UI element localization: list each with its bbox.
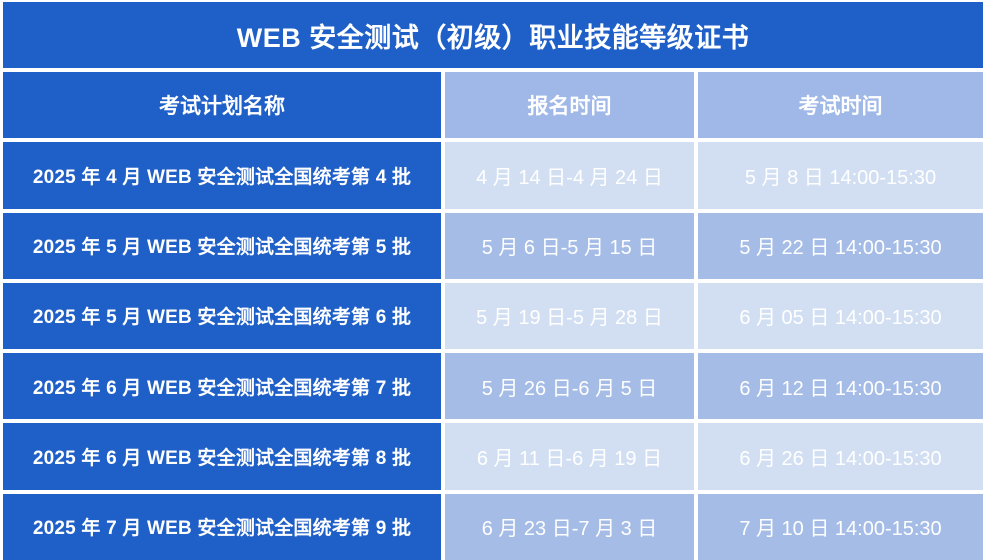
cell-exam-time: 6 月 05 日 14:00-15:30 bbox=[698, 283, 983, 349]
cell-plan-name: 2025 年 4 月 WEB 安全测试全国统考第 4 批 bbox=[3, 142, 441, 208]
table-row: 2025 年 5 月 WEB 安全测试全国统考第 5 批 5 月 6 日-5 月… bbox=[3, 213, 983, 279]
cell-exam-time: 6 月 26 日 14:00-15:30 bbox=[698, 423, 983, 489]
cell-plan-name: 2025 年 7 月 WEB 安全测试全国统考第 9 批 bbox=[3, 494, 441, 560]
table-header-row: 考试计划名称 报名时间 考试时间 bbox=[3, 72, 983, 138]
cell-plan-name: 2025 年 6 月 WEB 安全测试全国统考第 8 批 bbox=[3, 423, 441, 489]
cell-plan-name: 2025 年 5 月 WEB 安全测试全国统考第 5 批 bbox=[3, 213, 441, 279]
cell-plan-name: 2025 年 6 月 WEB 安全测试全国统考第 7 批 bbox=[3, 353, 441, 419]
table-row: 2025 年 4 月 WEB 安全测试全国统考第 4 批 4 月 14 日-4 … bbox=[3, 142, 983, 208]
schedule-table-body: 考试计划名称 报名时间 考试时间 2025 年 4 月 WEB 安全测试全国统考… bbox=[3, 72, 983, 560]
cell-signup-time: 6 月 23 日-7 月 3 日 bbox=[445, 494, 694, 560]
table-row: 2025 年 7 月 WEB 安全测试全国统考第 9 批 6 月 23 日-7 … bbox=[3, 494, 983, 560]
cell-exam-time: 6 月 12 日 14:00-15:30 bbox=[698, 353, 983, 419]
cell-signup-time: 4 月 14 日-4 月 24 日 bbox=[445, 142, 694, 208]
cell-exam-time: 5 月 22 日 14:00-15:30 bbox=[698, 213, 983, 279]
column-header-exam-time: 考试时间 bbox=[698, 72, 983, 138]
cell-exam-time: 5 月 8 日 14:00-15:30 bbox=[698, 142, 983, 208]
table-row: 2025 年 6 月 WEB 安全测试全国统考第 7 批 5 月 26 日-6 … bbox=[3, 353, 983, 419]
cell-signup-time: 5 月 6 日-5 月 15 日 bbox=[445, 213, 694, 279]
page-title: WEB 安全测试（初级）职业技能等级证书 bbox=[3, 2, 983, 68]
cell-plan-name: 2025 年 5 月 WEB 安全测试全国统考第 6 批 bbox=[3, 283, 441, 349]
table-row: 2025 年 5 月 WEB 安全测试全国统考第 6 批 5 月 19 日-5 … bbox=[3, 283, 983, 349]
cell-exam-time: 7 月 10 日 14:00-15:30 bbox=[698, 494, 983, 560]
column-header-plan-name: 考试计划名称 bbox=[3, 72, 441, 138]
column-header-signup-time: 报名时间 bbox=[445, 72, 694, 138]
exam-schedule-table: WEB 安全测试（初级）职业技能等级证书 考试计划名称 报名时间 考试时间 20… bbox=[0, 0, 986, 560]
cell-signup-time: 6 月 11 日-6 月 19 日 bbox=[445, 423, 694, 489]
cell-signup-time: 5 月 26 日-6 月 5 日 bbox=[445, 353, 694, 419]
cell-signup-time: 5 月 19 日-5 月 28 日 bbox=[445, 283, 694, 349]
table-row: 2025 年 6 月 WEB 安全测试全国统考第 8 批 6 月 11 日-6 … bbox=[3, 423, 983, 489]
